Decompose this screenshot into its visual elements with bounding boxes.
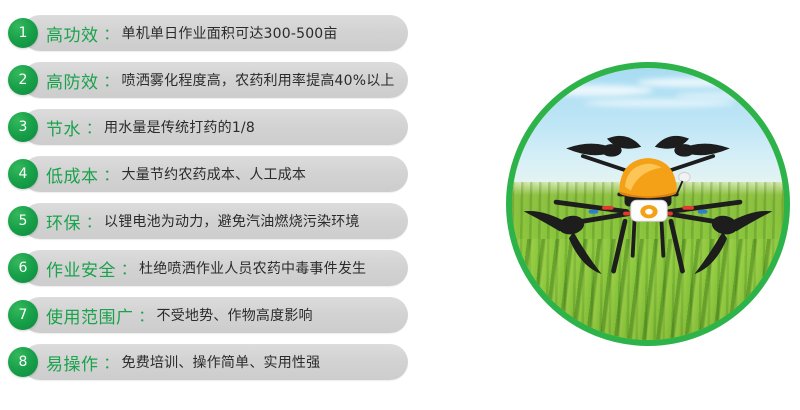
drone-photo-circle: [506, 62, 790, 346]
feature-text: 节水 ： 用水量是传统打药的1/8: [46, 109, 255, 145]
feature-number-badge: 6: [8, 253, 38, 283]
list-item[interactable]: 2 高防效 ： 喷洒雾化程度高，农药利用率提高40%以上: [8, 62, 408, 98]
drone-illustration: [512, 68, 784, 340]
list-item[interactable]: 4 低成本 ： 大量节约农药成本、人工成本: [8, 156, 408, 192]
feature-title: 作业安全: [46, 256, 116, 281]
feature-description: 免费培训、操作简单、实用性强: [122, 352, 321, 372]
feature-description: 大量节约农药成本、人工成本: [122, 164, 307, 184]
feature-list: 1 高功效 ： 单机单日作业面积可达300-500亩 2 高防效 ： 喷洒雾化程…: [0, 0, 460, 410]
feature-text: 环保 ： 以锂电池为动力，避免汽油燃烧污染环境: [46, 203, 360, 239]
list-item[interactable]: 8 易操作 ： 免费培训、操作简单、实用性强: [8, 344, 408, 380]
feature-text: 高功效 ： 单机单日作业面积可达300-500亩: [46, 15, 338, 51]
feature-description: 不受地势、作物高度影响: [157, 305, 313, 325]
feature-colon: ：: [81, 117, 104, 138]
feature-number-badge: 8: [8, 347, 38, 377]
list-item[interactable]: 7 使用范围广 ： 不受地势、作物高度影响: [8, 297, 408, 333]
feature-title: 低成本: [46, 162, 99, 187]
feature-colon: ：: [99, 70, 122, 91]
feature-colon: ：: [99, 352, 122, 373]
list-item[interactable]: 6 作业安全 ： 杜绝喷洒作业人员农药中毒事件发生: [8, 250, 408, 286]
list-item[interactable]: 3 节水 ： 用水量是传统打药的1/8: [8, 109, 408, 145]
feature-title: 易操作: [46, 350, 99, 375]
feature-number-badge: 4: [8, 159, 38, 189]
feature-text: 使用范围广 ： 不受地势、作物高度影响: [46, 297, 313, 333]
feature-description: 杜绝喷洒作业人员农药中毒事件发生: [139, 258, 366, 278]
feature-description: 用水量是传统打药的1/8: [104, 117, 255, 137]
feature-number-badge: 7: [8, 300, 38, 330]
feature-colon: ：: [134, 305, 157, 326]
feature-text: 高防效 ： 喷洒雾化程度高，农药利用率提高40%以上: [46, 62, 395, 98]
feature-number-badge: 3: [8, 112, 38, 142]
feature-title: 节水: [46, 115, 81, 140]
feature-title: 高防效: [46, 68, 99, 93]
feature-text: 易操作 ： 免费培训、操作简单、实用性强: [46, 344, 320, 380]
feature-colon: ：: [81, 211, 104, 232]
feature-colon: ：: [99, 164, 122, 185]
feature-description: 以锂电池为动力，避免汽油燃烧污染环境: [104, 211, 360, 231]
feature-description: 单机单日作业面积可达300-500亩: [122, 23, 338, 43]
feature-colon: ：: [99, 23, 122, 44]
list-item[interactable]: 1 高功效 ： 单机单日作业面积可达300-500亩: [8, 15, 408, 51]
feature-colon: ：: [116, 258, 139, 279]
feature-title: 高功效: [46, 21, 99, 46]
feature-description: 喷洒雾化程度高，农药利用率提高40%以上: [122, 70, 395, 90]
feature-title: 环保: [46, 209, 81, 234]
feature-text: 作业安全 ： 杜绝喷洒作业人员农药中毒事件发生: [46, 250, 366, 286]
feature-number-badge: 2: [8, 65, 38, 95]
feature-title: 使用范围广: [46, 303, 134, 328]
photo-inner: [512, 68, 784, 340]
feature-number-badge: 1: [8, 18, 38, 48]
list-item[interactable]: 5 环保 ： 以锂电池为动力，避免汽油燃烧污染环境: [8, 203, 408, 239]
feature-text: 低成本 ： 大量节约农药成本、人工成本: [46, 156, 306, 192]
feature-number-badge: 5: [8, 206, 38, 236]
